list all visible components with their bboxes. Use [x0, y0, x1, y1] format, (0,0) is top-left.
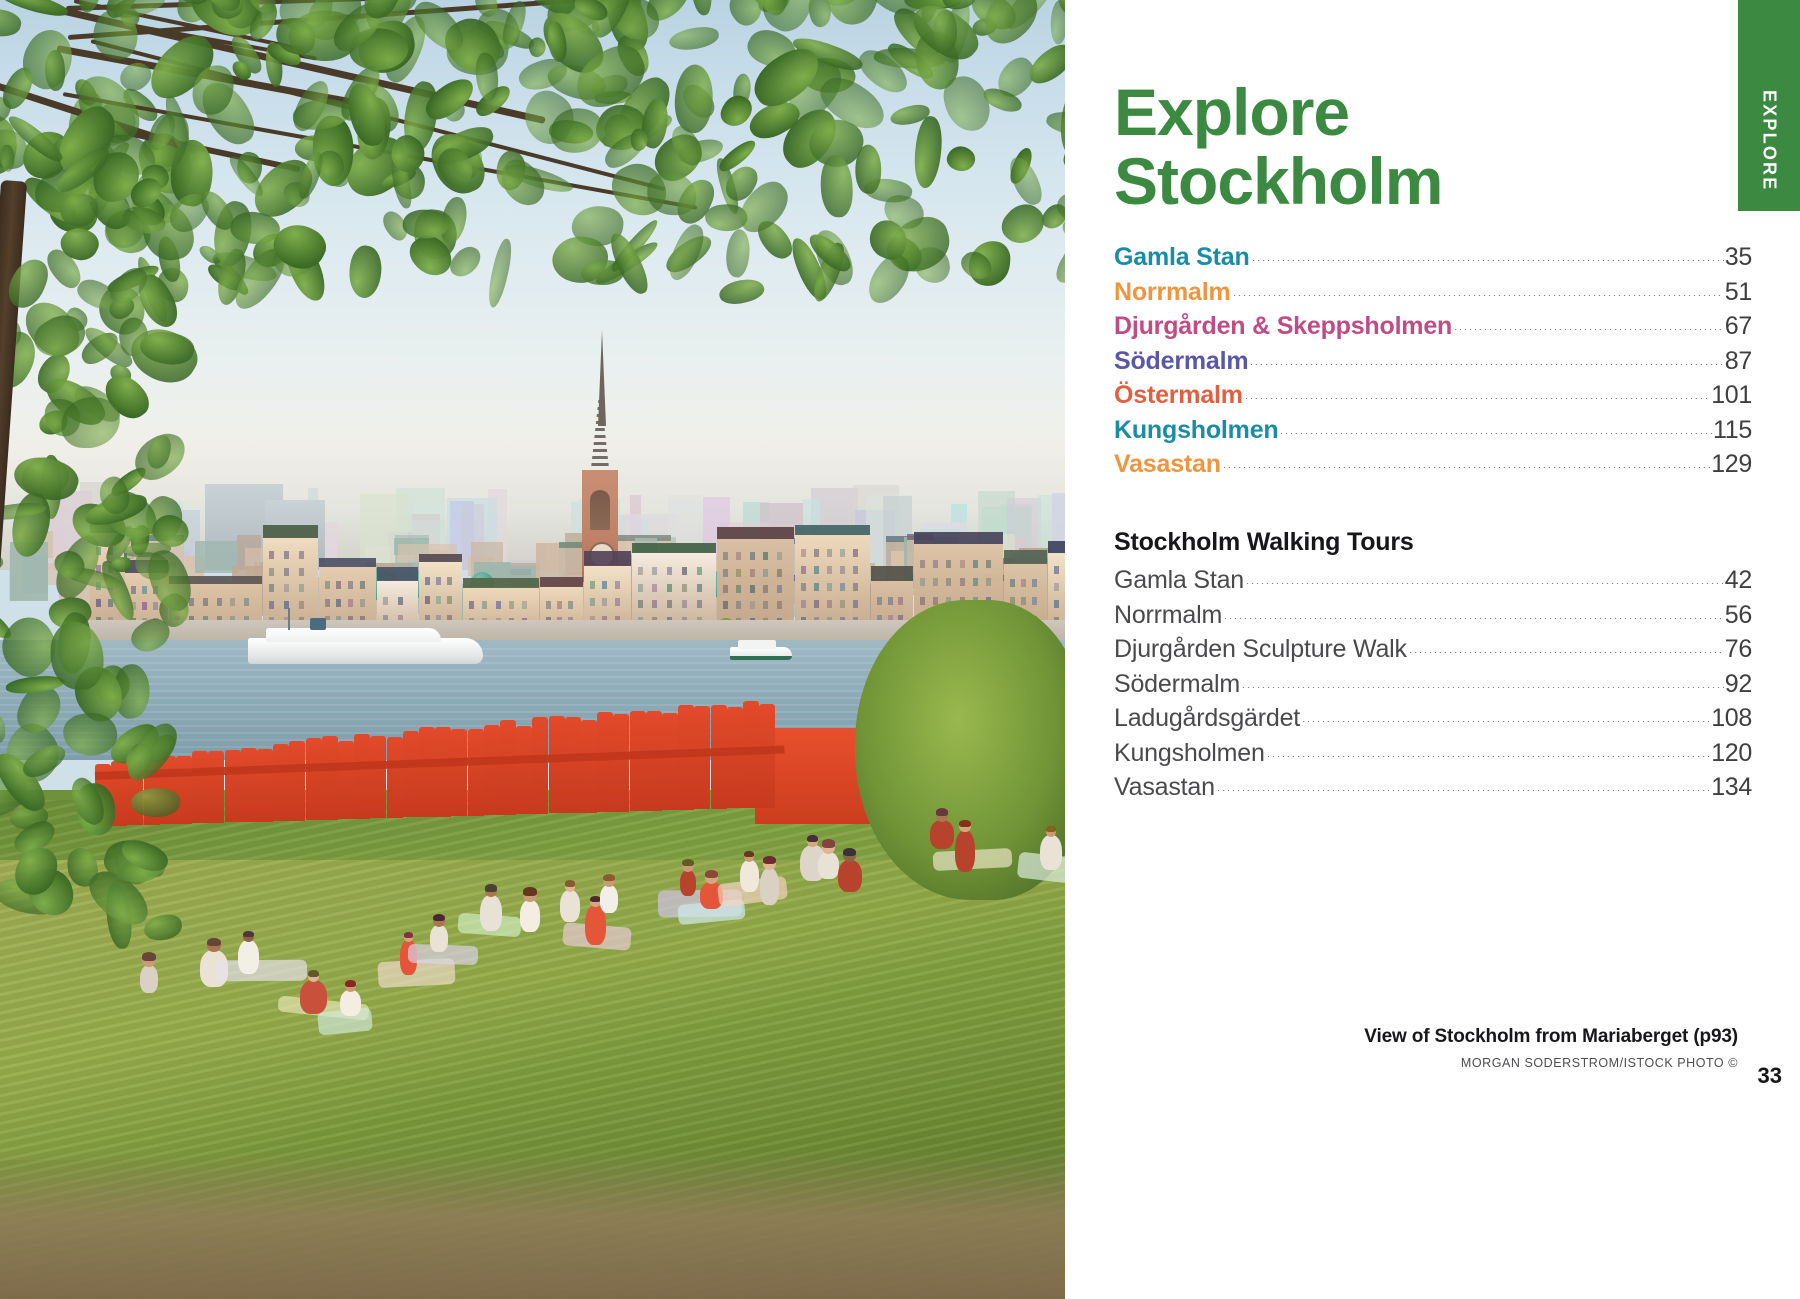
dot-leader	[1244, 398, 1710, 399]
dot-leader	[1251, 260, 1724, 261]
person-figure	[520, 900, 540, 932]
neighborhood-toc: Gamla Stan35Norrmalm51Djurgården & Skepp…	[1114, 243, 1752, 485]
walking-tour-label: Gamla Stan	[1114, 566, 1244, 595]
neighborhood-row[interactable]: Norrmalm51	[1114, 278, 1752, 307]
person-figure	[340, 990, 361, 1016]
walking-tour-page: 76	[1725, 635, 1752, 664]
person-hair	[404, 932, 413, 938]
photo-tree-canopy	[0, 0, 1065, 300]
walking-tour-label: Södermalm	[1114, 670, 1240, 699]
walking-tours-heading: Stockholm Walking Tours	[1114, 528, 1752, 557]
photo-white-ship	[248, 618, 483, 664]
dot-leader	[1241, 687, 1724, 688]
person-figure	[430, 925, 448, 952]
person-hair	[565, 880, 576, 887]
page-title: Explore Stockholm	[1114, 78, 1674, 215]
dot-leader	[1223, 618, 1724, 619]
person-hair	[936, 808, 949, 816]
walking-tour-row[interactable]: Djurgården Sculpture Walk76	[1114, 635, 1752, 664]
photo-credit: MORGAN SODERSTROM/ISTOCK PHOTO ©	[1178, 1056, 1738, 1070]
walking-tour-row[interactable]: Kungsholmen120	[1114, 739, 1752, 768]
neighborhood-row[interactable]: Vasastan129	[1114, 450, 1752, 479]
walking-tour-page: 108	[1711, 704, 1752, 733]
person-hair	[1046, 826, 1056, 832]
neighborhood-label: Gamla Stan	[1114, 243, 1250, 272]
neighborhood-page: 87	[1725, 347, 1752, 376]
page-title-line2: Stockholm	[1114, 147, 1674, 216]
neighborhood-label: Södermalm	[1114, 347, 1248, 376]
neighborhood-row[interactable]: Kungsholmen115	[1114, 416, 1752, 445]
walking-tour-page: 120	[1711, 739, 1752, 768]
hero-photo	[0, 0, 1065, 1299]
dot-leader	[1408, 652, 1724, 653]
photo-caption: View of Stockholm from Mariaberget (p93)	[1178, 1026, 1738, 1048]
walking-tours-toc: Stockholm Walking Tours Gamla Stan42Norr…	[1114, 528, 1752, 808]
person-hair	[485, 884, 497, 891]
walking-tour-row[interactable]: Norrmalm56	[1114, 601, 1752, 630]
person-hair	[523, 887, 537, 895]
neighborhood-row[interactable]: Södermalm87	[1114, 347, 1752, 376]
dot-leader	[1245, 583, 1724, 584]
neighborhood-label: Östermalm	[1114, 381, 1243, 410]
photo-ferry	[730, 636, 792, 660]
walking-tour-page: 42	[1725, 566, 1752, 595]
walking-tour-row[interactable]: Södermalm92	[1114, 670, 1752, 699]
person-figure	[930, 820, 954, 849]
dot-leader	[1249, 364, 1723, 365]
person-hair	[959, 820, 970, 827]
walking-tour-row[interactable]: Ladugårdsgärdet108	[1114, 704, 1752, 733]
text-panel: EXPLORE Explore Stockholm Gamla Stan35No…	[1065, 0, 1800, 1299]
person-figure	[955, 830, 975, 872]
page-number: 33	[1758, 1063, 1782, 1089]
neighborhood-page: 129	[1711, 450, 1752, 479]
person-hair	[433, 914, 445, 921]
person-hair	[744, 851, 754, 857]
page-title-line1: Explore	[1114, 78, 1674, 147]
dot-leader	[1222, 467, 1710, 468]
dot-leader	[1232, 295, 1724, 296]
dot-leader	[1453, 329, 1724, 330]
person-hair	[603, 874, 615, 881]
neighborhood-label: Vasastan	[1114, 450, 1221, 479]
neighborhood-page: 67	[1725, 312, 1752, 341]
neighborhood-page: 115	[1713, 416, 1752, 445]
explore-section-tab: EXPLORE	[1738, 0, 1800, 211]
person-figure	[238, 940, 259, 974]
person-figure	[740, 860, 759, 892]
walking-tour-page: 56	[1725, 601, 1752, 630]
walking-tour-label: Norrmalm	[1114, 601, 1222, 630]
walking-tour-page: 134	[1711, 773, 1752, 802]
person-figure	[480, 895, 502, 931]
neighborhood-page: 101	[1711, 381, 1752, 410]
neighborhood-label: Djurgården & Skeppsholmen	[1114, 312, 1452, 341]
person-hair	[807, 835, 818, 842]
neighborhood-row[interactable]: Gamla Stan35	[1114, 243, 1752, 272]
walking-tour-page: 92	[1725, 670, 1752, 699]
person-figure	[818, 852, 839, 879]
dot-leader	[1216, 790, 1710, 791]
person-figure	[300, 980, 327, 1014]
page-spread: EXPLORE Explore Stockholm Gamla Stan35No…	[0, 0, 1800, 1299]
person-figure	[838, 860, 862, 892]
dot-leader	[1301, 721, 1710, 722]
neighborhood-label: Norrmalm	[1114, 278, 1231, 307]
person-hair	[345, 980, 356, 987]
person-figure	[600, 885, 618, 913]
person-figure	[760, 868, 779, 905]
neighborhood-label: Kungsholmen	[1114, 416, 1278, 445]
person-hair	[705, 870, 718, 878]
person-figure	[680, 870, 696, 896]
person-figure	[560, 890, 580, 922]
person-hair	[822, 839, 836, 848]
person-hair	[308, 970, 319, 977]
explore-tab-label: EXPLORE	[1759, 90, 1780, 191]
person-hair	[763, 856, 776, 864]
person-hair	[682, 859, 694, 866]
neighborhood-page: 51	[1725, 278, 1752, 307]
person-hair	[243, 931, 253, 937]
picnic-blanket	[216, 960, 307, 981]
walking-tour-row[interactable]: Gamla Stan42	[1114, 566, 1752, 595]
walking-tour-label: Ladugårdsgärdet	[1114, 704, 1300, 733]
person-hair	[843, 848, 856, 856]
dot-leader	[1266, 756, 1711, 757]
neighborhood-page: 35	[1725, 243, 1752, 272]
walking-tour-label: Djurgården Sculpture Walk	[1114, 635, 1407, 664]
neighborhood-row[interactable]: Östermalm101	[1114, 381, 1752, 410]
walking-tour-label: Kungsholmen	[1114, 739, 1265, 768]
walking-tour-label: Vasastan	[1114, 773, 1215, 802]
person-figure	[140, 965, 158, 993]
walking-tour-row[interactable]: Vasastan134	[1114, 773, 1752, 802]
neighborhood-row[interactable]: Djurgården & Skeppsholmen67	[1114, 312, 1752, 341]
dot-leader	[1279, 433, 1712, 434]
person-figure	[1040, 835, 1062, 870]
